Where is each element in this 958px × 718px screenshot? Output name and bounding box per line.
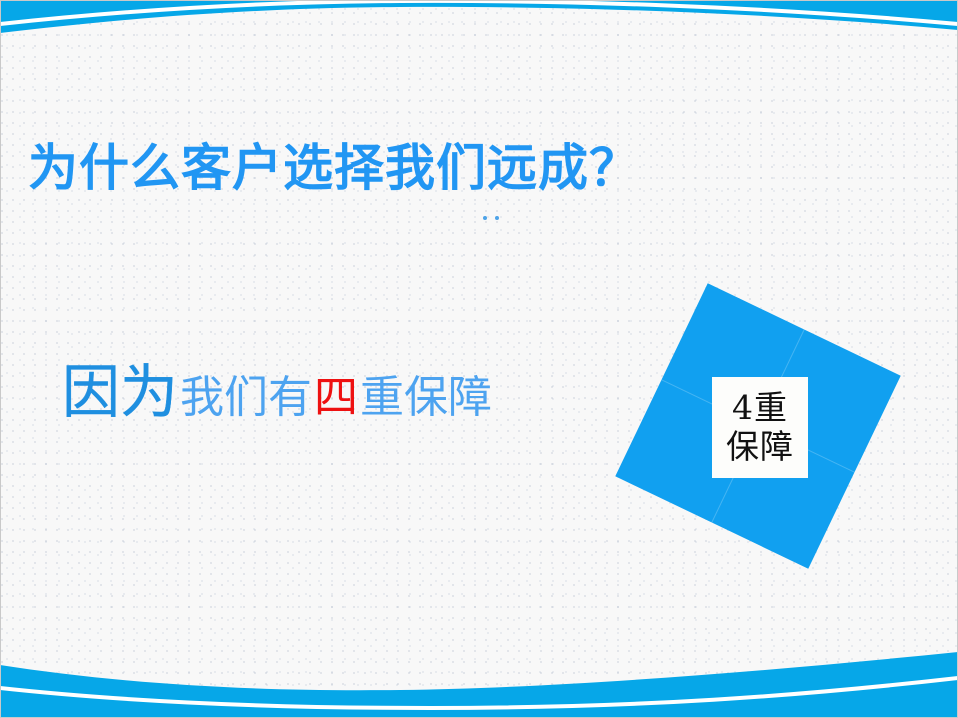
artifact-dot-right (495, 216, 499, 220)
title-block: 为什么客户选择我们远成？ (28, 143, 640, 193)
diamond-label-line-1: 4重 (732, 389, 788, 428)
subtitle-highlight: 四 (314, 376, 358, 420)
slide-canvas: 为什么客户选择我们远成？ 因为 我们有 四 重保障 4重 保障 (0, 0, 958, 718)
diamond-label-line-2: 保障 (726, 428, 794, 467)
subtitle-lead: 因为 (62, 363, 178, 421)
four-guarantees-diamond: 4重 保障 (610, 275, 910, 580)
page-title: 为什么客户选择我们远成？ (28, 143, 640, 193)
subtitle-after: 重保障 (360, 376, 492, 420)
bottom-wave-banner (0, 648, 958, 718)
subtitle-before: 我们有 (180, 376, 312, 420)
diamond-label-box: 4重 保障 (712, 377, 808, 478)
top-wave-fill (0, 0, 958, 33)
top-wave-banner (0, 0, 958, 60)
subtitle-block: 因为 我们有 四 重保障 (62, 363, 492, 421)
title-dots-artifact (483, 216, 499, 222)
artifact-dot-left (483, 216, 487, 220)
